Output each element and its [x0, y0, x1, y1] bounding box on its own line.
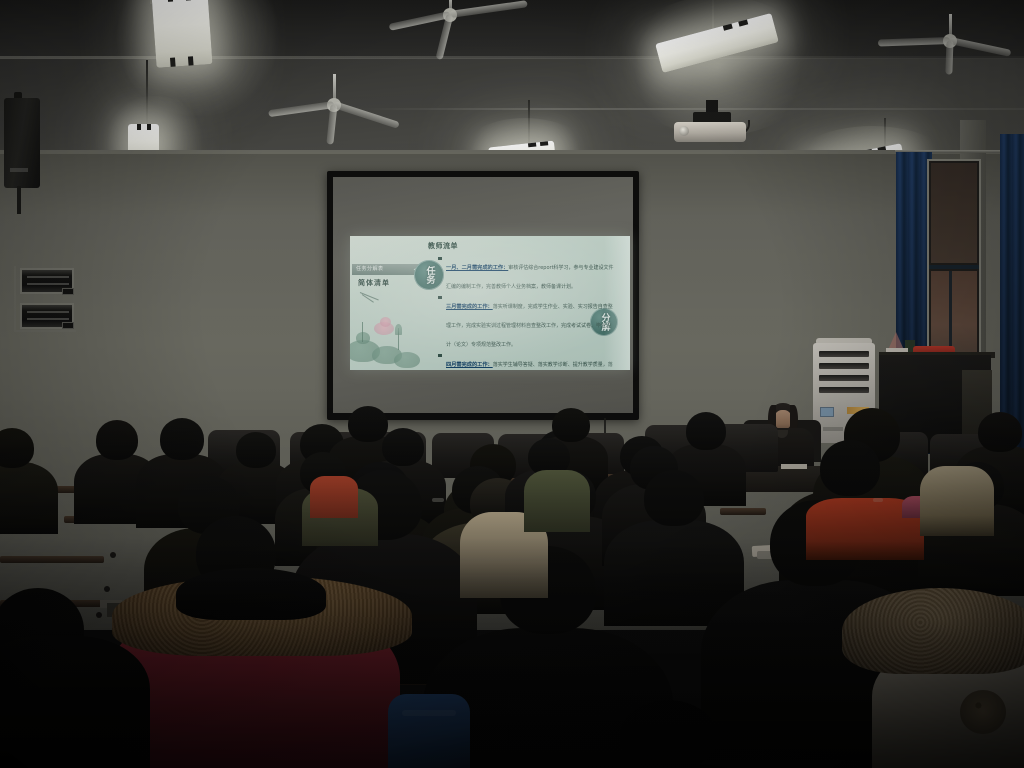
tube-cap [167, 0, 173, 2]
ac-vent-slat [819, 351, 869, 357]
speaker-label [10, 168, 28, 172]
slide-badge-task-label: 任务 [425, 266, 434, 284]
bullet-marker-icon [438, 257, 442, 261]
panel-slit [27, 318, 69, 320]
audience-head [96, 420, 138, 460]
fur-hood-trim [842, 588, 1024, 674]
audience-head [820, 440, 880, 496]
audience-head [236, 432, 276, 468]
bullet-marker-icon [438, 296, 442, 300]
slide-ribbon-sub: 简体清单 [358, 278, 390, 288]
panel-slit [27, 311, 69, 313]
bullet-marker-icon [438, 354, 442, 358]
ceiling-light-tube [151, 0, 212, 68]
beige-puffer-jacket [920, 466, 994, 536]
ac-vent-slat [819, 375, 869, 381]
audience-head [620, 700, 716, 768]
audience-head [348, 406, 388, 442]
lotus-bud [395, 324, 402, 335]
fan-stem [333, 74, 336, 100]
slide-bullet-item: 三月需完成的工作：落实听课制度，完成学生作业、实验、实习报告自查整理工作，完成实… [446, 293, 614, 350]
eyeglasses-glint [873, 498, 883, 502]
audience-head [644, 470, 704, 526]
backpack-strap [402, 710, 456, 716]
ac-label [823, 427, 843, 431]
projection-screen-surface: 任务分解表 简体清单 任务 分解 教师流单 一月、二月需完成的工作：审核评估综合… [333, 177, 633, 413]
audience-head [686, 412, 726, 450]
light-rod [884, 118, 886, 148]
olive-jacket [524, 470, 590, 532]
light-rod [146, 60, 148, 124]
slide-badge-task: 任务 [414, 260, 444, 290]
ac-vent-slat [819, 363, 869, 369]
panel-tag [62, 322, 74, 329]
window [927, 159, 981, 365]
slide-bullet-item: 四月需完成的工作：落实学生辅导答疑、落实教学诊断、提升教学质量，落实教师课堂纪律… [446, 351, 614, 370]
projector-lens-icon [679, 126, 689, 136]
window-mullion [929, 265, 979, 269]
light-rod [712, 0, 714, 30]
hooded-head [176, 568, 326, 620]
ceiling-seam-secondary [360, 108, 1024, 110]
audience-head [978, 412, 1022, 452]
wall-trim [0, 150, 1024, 154]
orange-jacket [310, 476, 358, 518]
slide-bullet-text: 落实听课制度，完成学生作业、实验、实习报告自查整理工作，完成实验实训过程管理材料… [446, 304, 613, 348]
audience-head [552, 408, 590, 442]
tube-cap [137, 124, 141, 130]
foreground-silhouette [0, 636, 150, 768]
ceiling-seam [0, 56, 1024, 59]
window-upper-pane [931, 163, 977, 263]
tube-cap [540, 141, 548, 146]
light-rod [528, 100, 530, 146]
audience-shoulders [0, 462, 58, 534]
slide-bullet-heading: 四月需完成的工作： [446, 362, 493, 368]
slide-ribbon-label: 任务分解表 [356, 265, 412, 272]
bench-fitting [104, 586, 110, 592]
lotus-stem [362, 322, 363, 342]
slide-bullet-heading: 一月、二月需完成的工作： [446, 265, 508, 271]
blue-backpack [388, 694, 470, 768]
speaker-cabinet [4, 98, 40, 188]
panel-slit [27, 276, 69, 278]
tube-cap [188, 56, 194, 65]
bench-rail [0, 556, 104, 563]
tube-cap [723, 24, 733, 31]
audience-head [382, 428, 424, 466]
slide-heading: 教师流单 [428, 241, 458, 251]
bench-rail [720, 508, 766, 515]
fan-stem [949, 14, 952, 36]
ac-vent-slat [819, 387, 869, 393]
tube-cap [147, 124, 151, 130]
bench-fitting [96, 612, 102, 618]
projection-screen: 任务分解表 简体清单 任务 分解 教师流单 一月、二月需完成的工作：审核评估综合… [327, 171, 639, 420]
slide-bullet-list: 一月、二月需完成的工作：审核评估综合report科学习，参与专业建设文件汇编的编… [446, 254, 614, 370]
tube-cap [738, 19, 748, 26]
lotus-flower [380, 317, 391, 327]
tube-cap [170, 58, 176, 67]
lotus-leaf [394, 352, 420, 368]
bench-fitting [110, 552, 116, 558]
slide-bullet-item: 一月、二月需完成的工作：审核评估综合report科学习，参与专业建设文件汇编的编… [446, 254, 614, 292]
eyeglasses-glint [432, 498, 444, 502]
ac-display-panel[interactable] [820, 407, 834, 417]
fan-blade [945, 40, 953, 74]
tube-cap [528, 142, 536, 147]
presenter-desk-paper [781, 464, 807, 469]
tube-cap [185, 0, 191, 1]
presentation-slide: 任务分解表 简体清单 任务 分解 教师流单 一月、二月需完成的工作：审核评估综合… [350, 236, 630, 370]
slide-bullet-heading: 三月需完成的工作： [446, 304, 493, 310]
audience-head [160, 418, 204, 460]
classroom-photo-scene: 任务分解表 简体清单 任务 分解 教师流单 一月、二月需完成的工作：审核评估综合… [0, 0, 1024, 768]
dragonfly-icon [360, 288, 382, 298]
fur-pom [960, 690, 1006, 734]
lotus-leaf [356, 332, 370, 344]
speaker-stem [17, 186, 21, 214]
panel-tag [62, 288, 74, 295]
panel-slit [27, 283, 69, 285]
